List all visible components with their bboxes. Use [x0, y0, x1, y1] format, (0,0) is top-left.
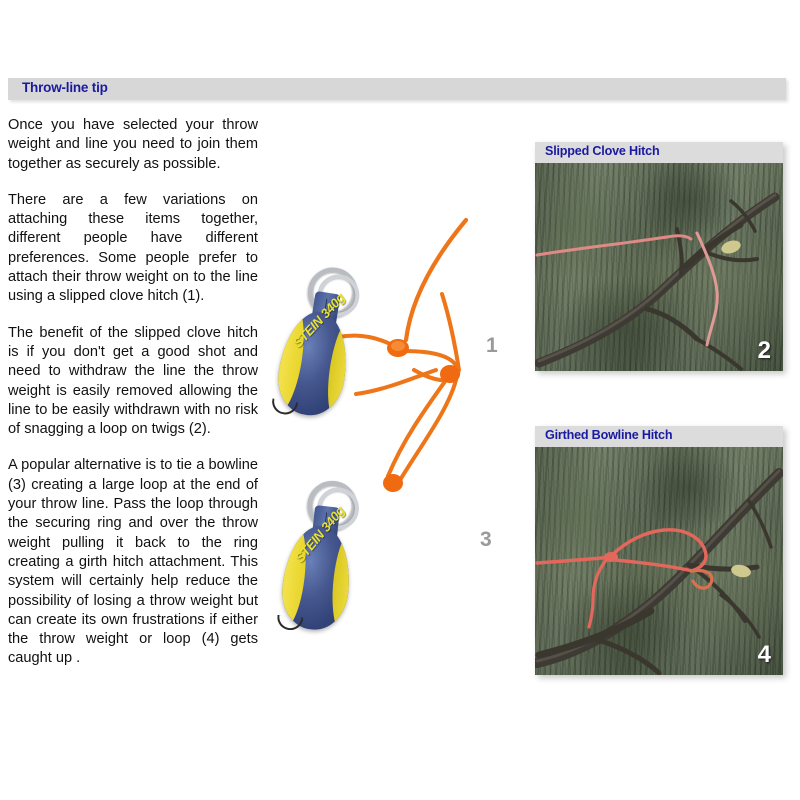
- leaf-bud: [720, 238, 743, 256]
- cord-tail-lower: [356, 370, 436, 394]
- step-number-1: 1: [486, 334, 498, 358]
- paragraph-4: A popular alternative is to tie a bowlin…: [8, 456, 258, 668]
- photo-index-number: 4: [758, 641, 771, 669]
- section-header-bar: Throw-line tip: [8, 78, 786, 100]
- throw-weight-bag-lower: ⸺ STEIN 340g: [276, 477, 365, 634]
- twig-lower: [647, 309, 697, 339]
- lower-twig: [595, 639, 659, 673]
- photo-image-girthed-bowline-hitch: 4: [535, 447, 783, 675]
- photo-panel-slipped-clove-hitch: Slipped Clove Hitch: [535, 142, 783, 371]
- lower-branch: [539, 611, 651, 655]
- photo-image-slipped-clove-hitch: 2: [535, 163, 783, 371]
- throw-line-tail: [589, 559, 607, 627]
- throw-line-standing: [537, 237, 667, 255]
- paragraph-2: There are a few variations on attaching …: [8, 191, 258, 307]
- leaf-bud: [730, 563, 752, 579]
- photo-index-number: 2: [758, 337, 771, 365]
- main-branch: [539, 197, 775, 363]
- paragraph-1: Once you have selected your throw weight…: [8, 116, 258, 174]
- throw-line-standing: [537, 557, 611, 563]
- cord-loop-leg-right: [400, 380, 456, 480]
- paragraph-3: The benefit of the slipped clove hitch i…: [8, 324, 258, 440]
- article-text-column: Once you have selected your throw weight…: [8, 116, 258, 669]
- twig-top-right: [749, 501, 771, 547]
- photo-caption-bar: Girthed Bowline Hitch: [535, 426, 783, 447]
- step-number-3: 3: [480, 528, 492, 552]
- photo-overlay-graphics-2: [535, 447, 783, 675]
- photo-caption-text: Slipped Clove Hitch: [545, 144, 659, 158]
- cord-loop-leg-left: [388, 380, 446, 476]
- throw-line-big-loop-bottom: [615, 560, 693, 571]
- knot-highlight-upper: [391, 341, 405, 351]
- photo-panel-girthed-bowline-hitch: Girthed Bowline Hitch: [535, 426, 783, 675]
- photo-caption-bar: Slipped Clove Hitch: [535, 142, 783, 163]
- page-root: Throw-line tip Once you have selected yo…: [0, 0, 800, 800]
- cord-standing-part-upper: [406, 220, 466, 340]
- illustration-area: ⸺ STEIN 340g ⸺ STEIN 340g 1 3: [258, 108, 528, 678]
- main-branch-highlight: [539, 195, 775, 361]
- photo-overlay-graphics-1: [535, 163, 783, 371]
- knot-bowline: [440, 365, 460, 383]
- photo-caption-text: Girthed Bowline Hitch: [545, 428, 672, 442]
- page-title: Throw-line tip: [22, 80, 108, 95]
- twig-lower-2: [697, 339, 741, 369]
- knot-girth-hitch: [383, 474, 403, 492]
